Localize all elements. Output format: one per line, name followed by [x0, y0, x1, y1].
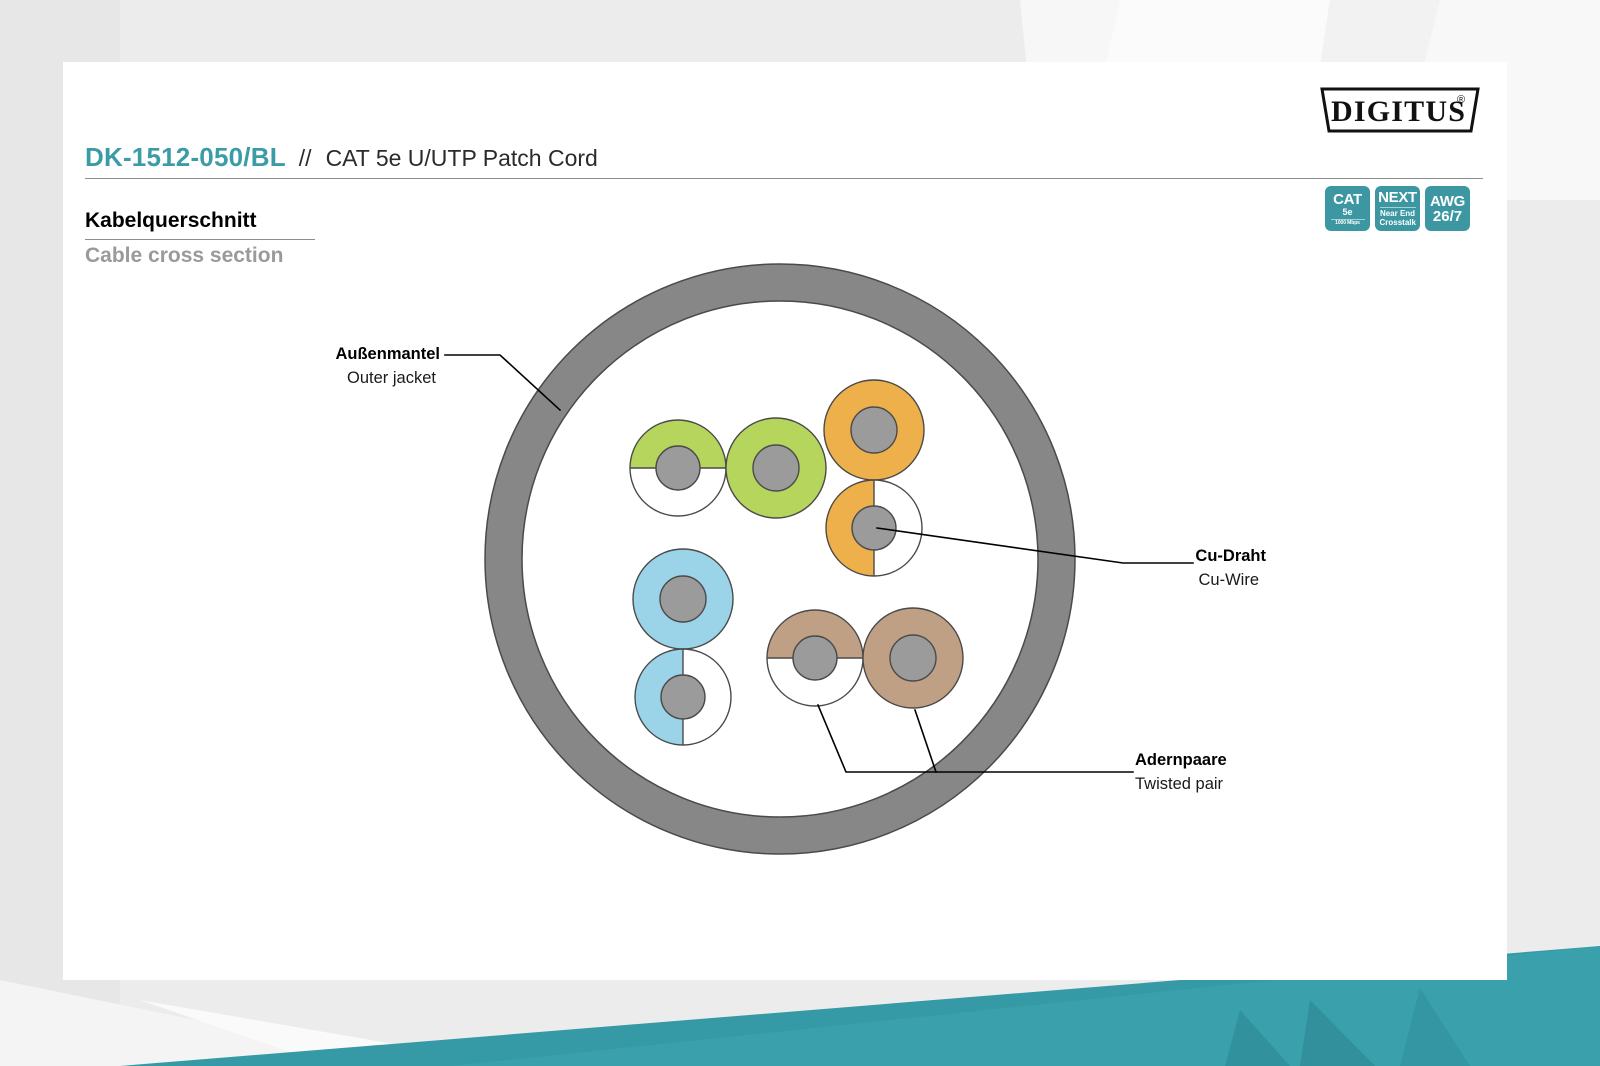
- green-solid-conductor: [753, 445, 799, 491]
- outer-jacket: [485, 264, 1075, 854]
- label-outer-jacket-de: Außenmantel: [335, 345, 440, 363]
- orange-solid-wire: [824, 380, 924, 480]
- label-twisted-pair-en: Twisted pair: [1135, 775, 1224, 793]
- brown-solid-conductor: [890, 635, 936, 681]
- green-striped-wire: [630, 420, 726, 516]
- content-card: DIGITUS ® DK-1512-050/BL // CAT 5e U/UTP…: [63, 62, 1507, 980]
- blue-solid-conductor: [660, 576, 706, 622]
- cable-cross-section-diagram: Außenmantel Outer jacket Cu-Draht Cu-Wir…: [63, 62, 1507, 980]
- orange-striped-conductor: [852, 506, 896, 550]
- label-cu-wire-en: Cu-Wire: [1199, 571, 1260, 589]
- orange-striped-wire: [826, 480, 922, 576]
- green-striped-conductor: [656, 446, 700, 490]
- blue-striped-conductor: [661, 675, 705, 719]
- blue-solid-wire: [633, 549, 733, 649]
- label-cu-wire-de: Cu-Draht: [1195, 547, 1266, 565]
- green-solid-wire: [726, 418, 826, 518]
- brown-striped-wire: [767, 610, 863, 706]
- blue-striped-wire: [635, 649, 731, 745]
- label-twisted-pair-de: Adernpaare: [1135, 751, 1227, 769]
- orange-solid-conductor: [851, 407, 897, 453]
- brown-striped-conductor: [793, 636, 837, 680]
- brown-solid-wire: [863, 608, 963, 708]
- label-outer-jacket-en: Outer jacket: [347, 369, 436, 387]
